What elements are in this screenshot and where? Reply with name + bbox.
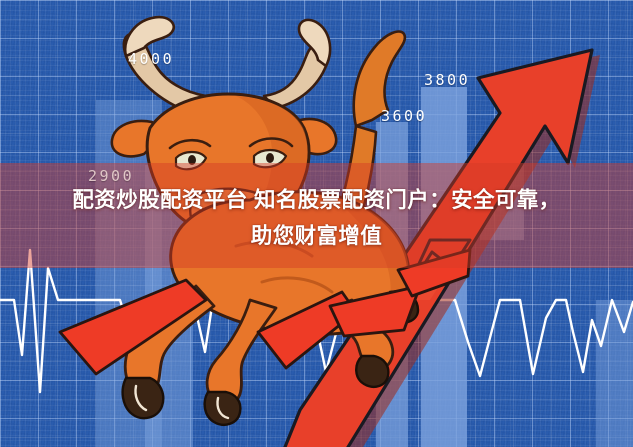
headline-line-1: 配资炒股配资平台 知名股票配资门户：安全可靠，	[72, 188, 560, 212]
value-label-3800: 3800	[424, 71, 470, 89]
headline-line-2: 助您财富增值	[0, 218, 633, 254]
bull-pupil-right	[266, 153, 274, 163]
bull-hoof-second	[205, 392, 241, 425]
stock-promo-banner: 4000 3800 3600 2900 配资炒股配资平台 知名股票配资门户：安全…	[0, 0, 633, 447]
value-label-3600: 3600	[381, 107, 427, 125]
bull-hoof-front-left	[123, 378, 164, 418]
bull-hoof-rear	[356, 356, 388, 387]
value-label-4000: 4000	[128, 50, 174, 68]
headline-text: 配资炒股配资平台 知名股票配资门户：安全可靠， 助您财富增值	[0, 182, 633, 254]
